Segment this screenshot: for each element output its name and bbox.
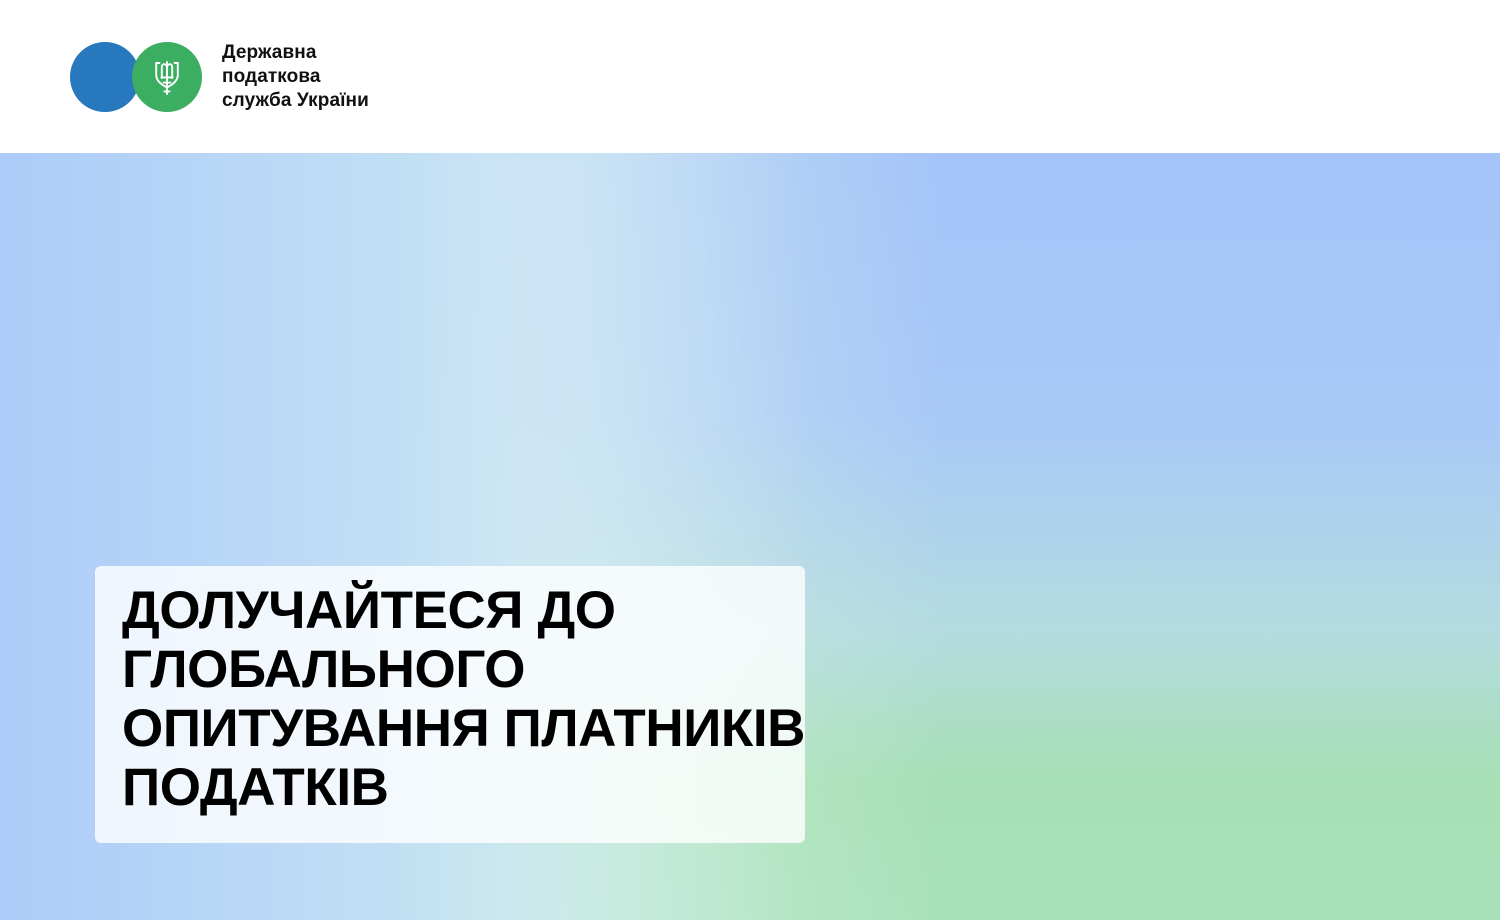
hero-photo: ДОЛУЧАЙТЕСЯ ДО ГЛОБАЛЬНОГО ОПИТУВАННЯ ПЛ… [0,153,1500,920]
ukraine-trident-icon [151,56,183,98]
logo-marks [70,42,202,112]
organization-name: Державна податкова служба України [222,41,369,113]
brand-lockup[interactable]: Державна податкова служба України [70,41,369,113]
page-title: ДОЛУЧАЙТЕСЯ ДО ГЛОБАЛЬНОГО ОПИТУВАННЯ ПЛ… [122,581,812,817]
banner-stage: Державна податкова служба України [0,0,1500,920]
blue-circle-mark [70,42,140,112]
site-header: Державна податкова служба України [0,0,1500,153]
